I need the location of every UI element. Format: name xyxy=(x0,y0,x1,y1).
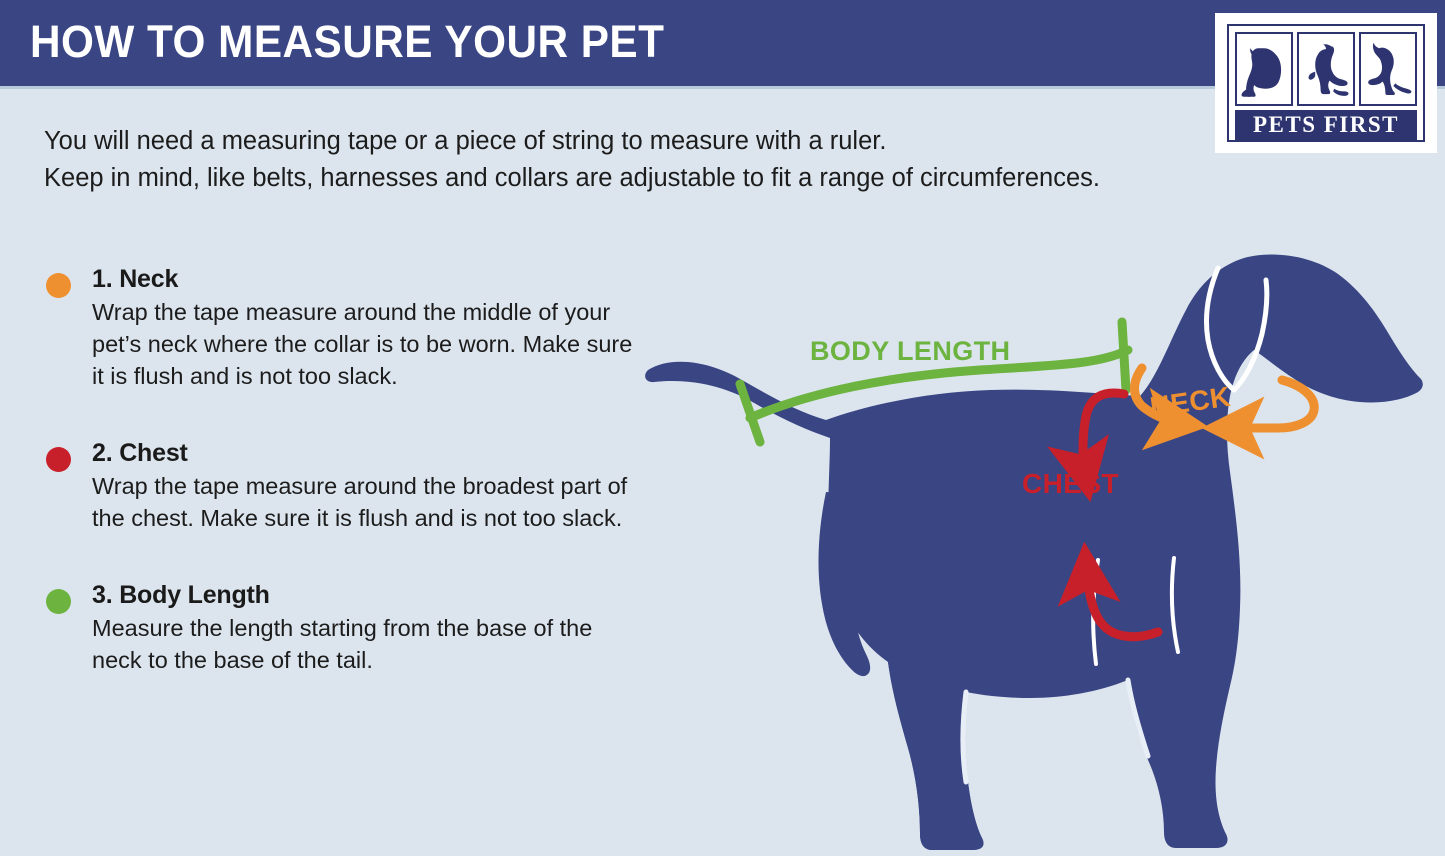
bullet-body-length-icon xyxy=(46,589,71,614)
bullet-neck-icon xyxy=(46,273,71,298)
label-chest: CHEST xyxy=(1022,468,1119,500)
measurement-steps-list: 1. Neck Wrap the tape measure around the… xyxy=(44,262,644,720)
page-title: HOW TO MEASURE YOUR PET xyxy=(30,16,664,68)
sitting-dog-silhouette-icon xyxy=(1235,32,1293,106)
intro-text: You will need a measuring tape or a piec… xyxy=(44,123,1284,197)
logo-panel-row xyxy=(1235,32,1417,106)
alert-dog-silhouette-icon xyxy=(1359,32,1417,106)
step-body-body-length: Measure the length starting from the bas… xyxy=(92,612,637,676)
intro-line-2: Keep in mind, like belts, harnesses and … xyxy=(44,160,1284,197)
infographic-page: HOW TO MEASURE YOUR PET xyxy=(0,0,1445,856)
step-body-chest: Wrap the tape measure around the broades… xyxy=(92,470,637,534)
step-item-body-length: 3. Body Length Measure the length starti… xyxy=(44,578,644,676)
step-body-neck: Wrap the tape measure around the middle … xyxy=(92,296,637,392)
step-title-body-length: 3. Body Length xyxy=(92,578,644,612)
dog-measurement-illustration: BODY LENGTH NECK CHEST xyxy=(630,200,1430,850)
howling-dog-silhouette-icon xyxy=(1297,32,1355,106)
step-item-neck: 1. Neck Wrap the tape measure around the… xyxy=(44,262,644,392)
bullet-chest-icon xyxy=(46,447,71,472)
step-item-chest: 2. Chest Wrap the tape measure around th… xyxy=(44,436,644,534)
dog-silhouette xyxy=(645,255,1423,850)
intro-line-1: You will need a measuring tape or a piec… xyxy=(44,123,1284,160)
step-title-chest: 2. Chest xyxy=(92,436,644,470)
step-title-neck: 1. Neck xyxy=(92,262,644,296)
label-body-length: BODY LENGTH xyxy=(810,336,1010,367)
